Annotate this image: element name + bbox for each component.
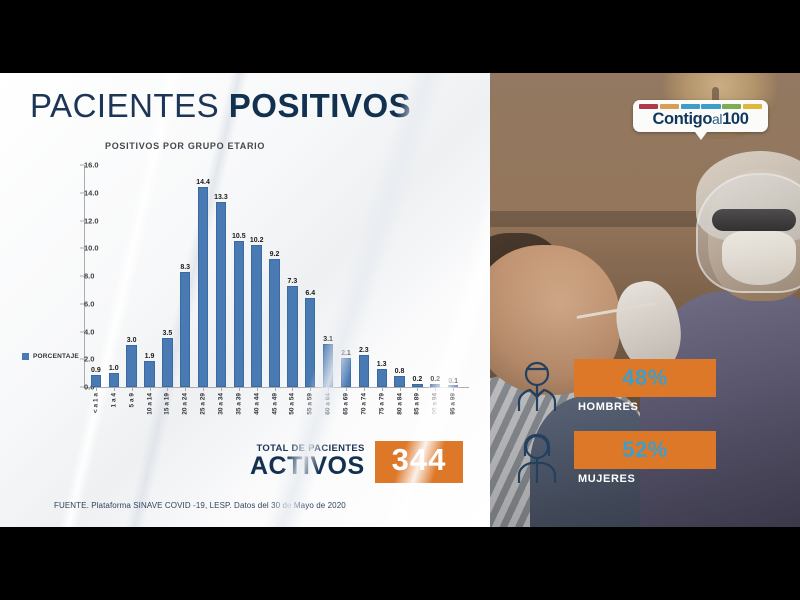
brand-color-bars [639,104,762,109]
bar-value-label: 6.4 [305,290,315,297]
brand-color-bar [639,104,658,109]
bar-value-label: 8.3 [180,264,190,271]
brand-color-bar [701,104,720,109]
total-heading: ACTIVOS [250,454,365,480]
bar[interactable] [180,272,190,387]
brand-color-bar [681,104,700,109]
bar[interactable] [91,375,101,387]
bar-value-label: 7.3 [288,278,298,285]
bar-group: 13.330 a 34 [212,165,230,387]
right-panel: Contigoal100 48% HOMBRES [490,73,800,527]
bar-group: 7.350 a 54 [283,165,301,387]
bar-value-label: 14.4 [196,179,210,186]
stat-hombres-label: HOMBRES [578,401,638,413]
x-axis-tick-mark [96,387,97,391]
bar-group: 1.375 a 79 [373,165,391,387]
bar-group: 0.290 a 94 [426,165,444,387]
bar-group: 3.160 a 64 [319,165,337,387]
bar-value-label: 10.5 [232,233,246,240]
total-value-badge: 344 [375,441,464,483]
total-active-patients: TOTAL DE PACIENTES ACTIVOS 344 [250,441,463,483]
x-axis-tick-mark [203,387,204,391]
bar-value-label: 2.1 [341,350,351,357]
bar-group: 8.320 a 24 [176,165,194,387]
x-axis-tick-mark [382,387,383,391]
brand-logo: Contigoal100 [633,100,768,132]
x-axis-tick-mark [417,387,418,391]
x-axis-tick-mark [257,387,258,391]
x-axis-tick-label: 65 a 69 [342,393,349,415]
bar-group: 9.245 a 49 [266,165,284,387]
stat-mujeres-label: MUJERES [578,473,635,485]
bar[interactable] [394,376,404,387]
bar-value-label: 0.1 [448,378,458,385]
brand-logo-bubble: Contigoal100 [633,100,768,132]
bar-value-label: 1.9 [145,353,155,360]
left-panel: PACIENTES POSITIVOS POSITIVOS POR GRUPO … [0,73,490,527]
x-axis-tick-label: 95 a 99 [450,393,457,415]
x-axis-tick-mark [292,387,293,391]
brand-color-bar [722,104,741,109]
bar[interactable] [251,245,261,387]
x-axis-tick-mark [328,387,329,391]
x-axis-tick-label: 60 a 64 [325,393,332,415]
bar-value-label: 0.2 [413,376,423,383]
brand-logo-pointer [695,132,707,140]
x-axis-tick-label: 40 a 44 [253,393,260,415]
brand-name-1: Contigo [653,110,713,128]
stat-hombres-percent: 48% [622,365,668,391]
bar-group: 10.240 a 44 [248,165,266,387]
page-title-bold: POSITIVOS [229,87,411,124]
x-axis-tick-label: 10 a 14 [146,393,153,415]
bar-group: 0.195 a 99 [444,165,462,387]
x-axis-tick-label: 15 a 19 [164,393,171,415]
screenshot-stage: PACIENTES POSITIVOS POSITIVOS POR GRUPO … [0,0,800,600]
stat-hombres: 48% HOMBRES [498,359,798,421]
x-axis-tick-label: 80 a 84 [396,393,403,415]
bar-group: 6.455 a 59 [301,165,319,387]
bar-group: 14.425 a 29 [194,165,212,387]
bar-value-label: 3.0 [127,337,137,344]
x-axis-tick-mark [114,387,115,391]
bar-value-label: 2.3 [359,347,369,354]
x-axis-tick-label: 85 a 89 [414,393,421,415]
stat-hombres-badge: 48% [574,359,716,397]
bar[interactable] [341,358,351,387]
bar-group: 2.370 a 74 [355,165,373,387]
stat-mujeres-percent: 52% [622,437,668,463]
stat-mujeres-badge: 52% [574,431,716,469]
brand-name-2: al [712,111,722,127]
legend-label: PORCENTAJE [33,353,79,360]
bar-group: 2.165 a 69 [337,165,355,387]
woman-icon [506,427,568,489]
bar-group: 3.05 a 9 [123,165,141,387]
total-text-block: TOTAL DE PACIENTES ACTIVOS [250,444,365,479]
bar[interactable] [216,202,226,387]
x-axis-tick-label: 70 a 74 [360,393,367,415]
brand-color-bar [743,104,762,109]
x-axis-tick-mark [364,387,365,391]
x-axis-tick-mark [400,387,401,391]
bar[interactable] [269,259,279,387]
bar-value-label: 0.8 [395,368,405,375]
bar[interactable] [109,373,119,387]
x-axis-line [84,387,469,388]
x-axis-tick-label: 30 a 34 [217,393,224,415]
bar-group: 1.910 a 14 [141,165,159,387]
bar-group: 0.880 a 84 [391,165,409,387]
bar-group: 1.01 a 4 [105,165,123,387]
x-axis-tick-mark [221,387,222,391]
x-axis-tick-mark [453,387,454,391]
x-axis-tick-label: 75 a 79 [378,393,385,415]
legend-swatch [22,353,29,360]
chart-legend: PORCENTAJE [22,353,79,360]
page-title: PACIENTES POSITIVOS [30,87,411,125]
bar-group: 10.535 a 39 [230,165,248,387]
bar[interactable] [287,286,297,387]
bar-value-label: 0.9 [91,367,101,374]
bar[interactable] [377,369,387,387]
x-axis-tick-mark [150,387,151,391]
brand-logo-text: Contigoal100 [639,111,762,128]
x-axis-tick-label: 35 a 39 [235,393,242,415]
bar[interactable] [162,338,172,387]
bar-group: 0.285 a 89 [408,165,426,387]
bar-value-label: 1.3 [377,361,387,368]
bar[interactable] [198,187,208,387]
x-axis-tick-label: < a 1 a [92,393,99,413]
bar-group: 0.9< a 1 a [87,165,105,387]
plot-area: 0.9< a 1 a1.01 a 43.05 a 91.910 a 143.51… [84,165,465,387]
page-subtitle: POSITIVOS POR GRUPO ETARIO [105,141,265,151]
bar-value-label: 3.5 [162,330,172,337]
x-axis-tick-label: 20 a 24 [182,393,189,415]
bar[interactable] [323,344,333,387]
bar-value-label: 10.2 [250,237,264,244]
bar-series: 0.9< a 1 a1.01 a 43.05 a 91.910 a 143.51… [84,165,465,387]
x-axis-tick-mark [346,387,347,391]
bar-value-label: 13.3 [214,194,228,201]
bar[interactable] [305,298,315,387]
x-axis-tick-mark [275,387,276,391]
brand-color-bar [660,104,679,109]
x-axis-tick-mark [185,387,186,391]
x-axis-tick-label: 90 a 94 [432,393,439,415]
brand-name-3: 100 [722,110,748,128]
x-axis-tick-label: 5 a 9 [128,393,135,407]
bar[interactable] [144,361,154,387]
x-axis-tick-mark [167,387,168,391]
bar[interactable] [126,345,136,387]
source-note: FUENTE. Plataforma SINAVE COVID -19, LES… [54,501,346,510]
x-axis-tick-label: 45 a 49 [271,393,278,415]
bar[interactable] [359,355,369,387]
x-axis-tick-mark [132,387,133,391]
bar-value-label: 9.2 [270,251,280,258]
bar-value-label: 3.1 [323,336,333,343]
man-icon [506,355,568,417]
x-axis-tick-label: 25 a 29 [200,393,207,415]
stat-mujeres: 52% MUJERES [498,431,798,493]
bar-value-label: 1.0 [109,365,119,372]
content-band: PACIENTES POSITIVOS POSITIVOS POR GRUPO … [0,73,800,527]
x-axis-tick-mark [435,387,436,391]
bar-value-label: 0.2 [430,376,440,383]
page-title-light: PACIENTES [30,87,219,124]
x-axis-tick-label: 1 a 4 [110,393,117,407]
x-axis-tick-mark [239,387,240,391]
bar-chart: 0.02.04.06.08.010.012.014.016.0 0.9< a 1… [22,157,477,477]
bar-group: 3.515 a 19 [158,165,176,387]
x-axis-tick-label: 55 a 59 [307,393,314,415]
x-axis-tick-mark [310,387,311,391]
bar[interactable] [234,241,244,387]
x-axis-tick-label: 50 a 54 [289,393,296,415]
